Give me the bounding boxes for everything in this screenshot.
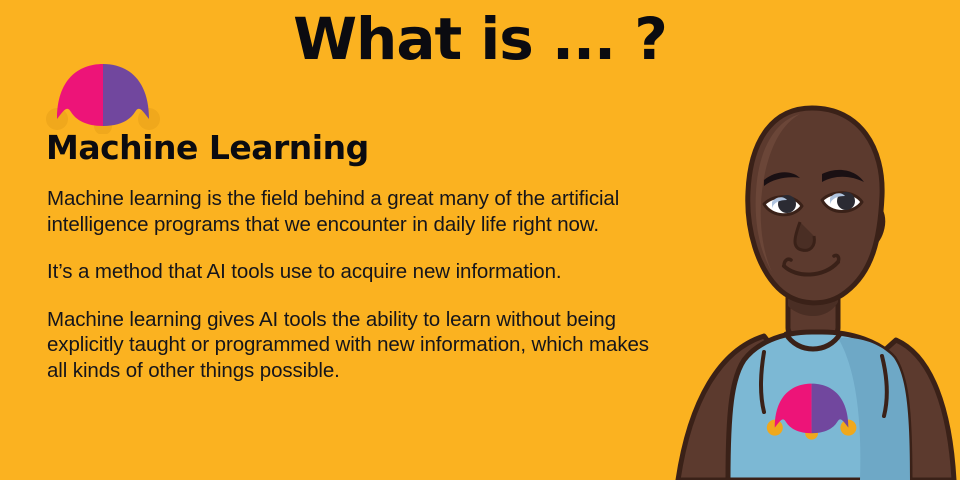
jester-hat-logo bbox=[46, 62, 160, 134]
cartoon-person-illustration bbox=[660, 100, 960, 480]
paragraph: It’s a method that AI tools use to acqui… bbox=[47, 259, 672, 285]
character-svg bbox=[660, 100, 960, 480]
body-copy: Machine learning is the field behind a g… bbox=[47, 186, 672, 383]
shirt-logo-bell-right bbox=[840, 420, 856, 436]
paragraph: Machine learning is the field behind a g… bbox=[47, 186, 672, 237]
slide-canvas: What is ... ? Machine Learning Machine l… bbox=[0, 0, 960, 480]
jester-hat-icon bbox=[46, 62, 160, 134]
paragraph: Machine learning gives AI tools the abil… bbox=[47, 307, 672, 384]
shirt-logo-bell-left bbox=[767, 420, 783, 436]
subject-heading: Machine Learning bbox=[46, 128, 369, 167]
